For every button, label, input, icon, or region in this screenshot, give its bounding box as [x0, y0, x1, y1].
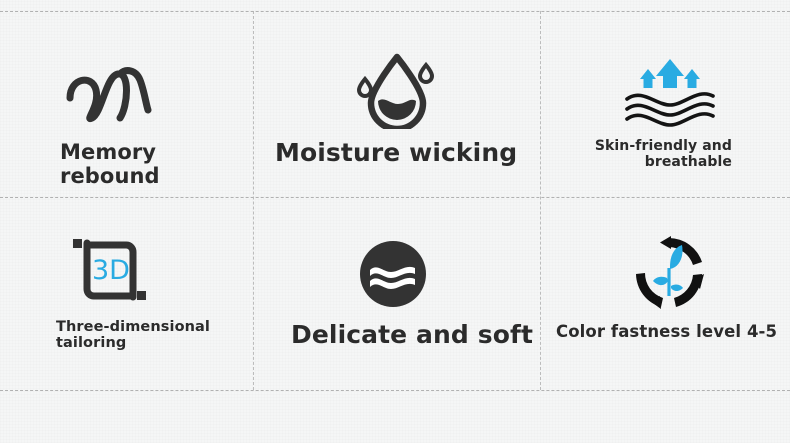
feature-card-moisture-wicking: Moisture wicking [253, 11, 540, 197]
feature-label: Memory rebound [60, 141, 253, 188]
3d-crop-frame-icon: 3D [70, 231, 150, 311]
feature-card-color-fastness: Color fastness level 4-5 [540, 197, 790, 390]
feature-card-memory-rebound: Memory rebound [0, 11, 253, 197]
3d-icon-text: 3D [92, 255, 130, 286]
feature-grid-banner: Memory rebound Moisture wicking [0, 0, 790, 443]
recycle-sprout-icon [630, 234, 708, 316]
feature-card-delicate-and-soft: Delicate and soft [253, 197, 540, 390]
feature-label: Three-dimensional tailoring [56, 319, 210, 351]
breathable-airflow-icon [622, 55, 718, 131]
spring-coil-icon [62, 64, 162, 130]
feature-card-skin-friendly-breathable: Skin-friendly and breathable [540, 11, 790, 197]
divider-bottom [0, 390, 790, 391]
feature-card-three-dimensional-tailoring: 3D Three-dimensional tailoring [0, 197, 253, 390]
feature-label: Delicate and soft [291, 321, 533, 349]
feature-label: Color fastness level 4-5 [556, 323, 777, 341]
water-droplet-icon [354, 51, 440, 133]
feature-label: Skin-friendly and breathable [595, 139, 732, 170]
feature-label: Moisture wicking [275, 139, 517, 167]
soft-waves-circle-icon [358, 239, 428, 313]
